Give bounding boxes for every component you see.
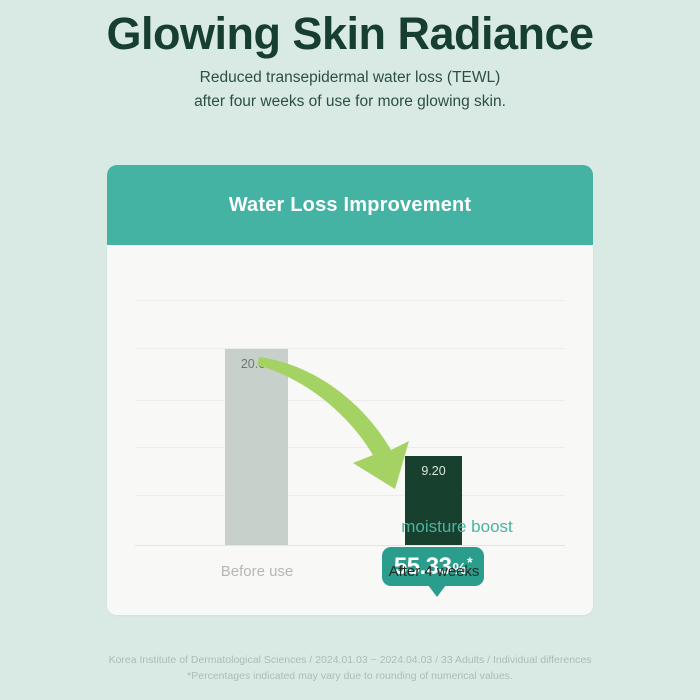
infographic-page: Glowing Skin Radiance Reduced transepide…: [0, 0, 700, 700]
page-subtitle: Reduced transepidermal water loss (TEWL)…: [0, 66, 700, 114]
subtitle-line-1: Reduced transepidermal water loss (TEWL): [200, 69, 501, 86]
subtitle-line-2: after four weeks of use for more glowing…: [0, 90, 700, 114]
chart-plot-area: 20.60 9.20 moisture boost 55.33%* Before…: [107, 245, 593, 615]
x-axis-label-after-4-weeks: After 4 weeks: [370, 563, 498, 580]
page-title: Glowing Skin Radiance: [0, 6, 700, 62]
footnote-study-info: Korea Institute of Dermatological Scienc…: [0, 652, 700, 668]
chart-title: Water Loss Improvement: [229, 194, 472, 217]
moisture-boost-label: moisture boost: [357, 517, 557, 537]
x-axis-label-before-use: Before use: [195, 563, 319, 580]
decline-arrow-icon: [107, 245, 593, 615]
improvement-badge-pointer: [428, 585, 446, 597]
chart-card-header: Water Loss Improvement: [107, 165, 593, 245]
chart-card: Water Loss Improvement 20.60 9.20 moistu…: [107, 165, 593, 615]
footnote-rounding-note: *Percentages indicated may vary due to r…: [0, 668, 700, 684]
